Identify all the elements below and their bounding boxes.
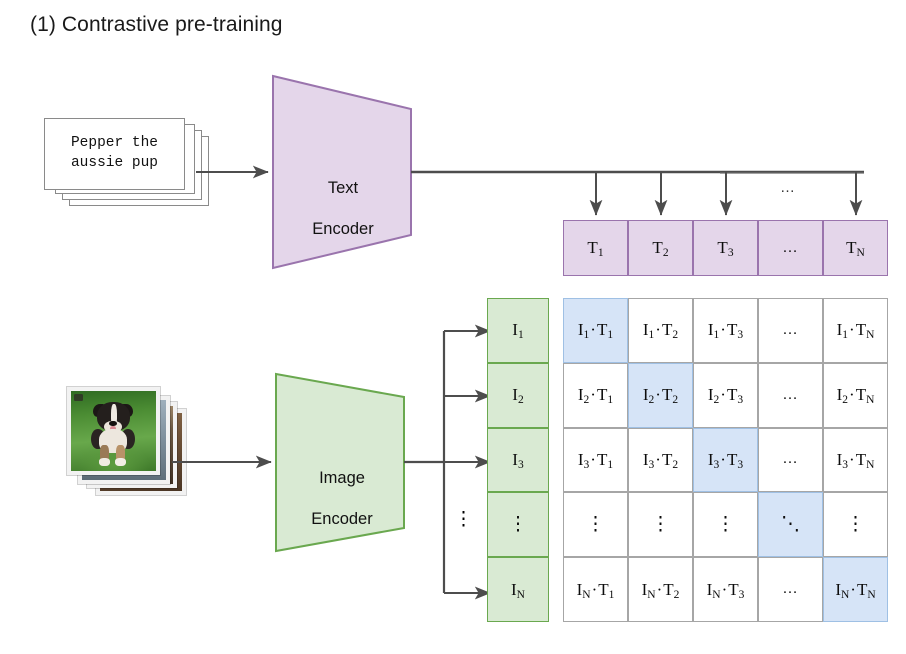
diagram-canvas: (1) Contrastive pre-training Pepper the … bbox=[0, 0, 906, 654]
image-embedding-ellipsis: ⋮ bbox=[487, 492, 549, 557]
matrix-cell-i3-t1: I3·T1 bbox=[563, 428, 628, 493]
image-encoder-line2: Encoder bbox=[311, 510, 372, 528]
image-embedding-i3: I3 bbox=[487, 428, 549, 493]
matrix-cell-ellipsis-r2-c4: … bbox=[758, 363, 823, 428]
text-embedding-t2: T2 bbox=[628, 220, 693, 276]
matrix-cell-i2-tN: I2·TN bbox=[823, 363, 888, 428]
matrix-cell-ellipsis-r4-c2: ⋮ bbox=[628, 492, 693, 557]
text-bus-ellipsis: … bbox=[780, 179, 796, 196]
matrix-cell-iN-tN: IN·TN bbox=[823, 557, 888, 622]
image-embedding-i2: I2 bbox=[487, 363, 549, 428]
text-encoder-line1: Text bbox=[328, 179, 358, 197]
image-encoder-label: Image Encoder bbox=[286, 447, 398, 530]
matrix-cell-ellipsis-r4-c5: ⋮ bbox=[823, 492, 888, 557]
text-embedding-tN: TN bbox=[823, 220, 888, 276]
matrix-cell-ellipsis-r3-c4: … bbox=[758, 428, 823, 493]
matrix-cell-ellipsis-r1-c4: … bbox=[758, 298, 823, 363]
matrix-cell-ellipsis-r5-c4: … bbox=[758, 557, 823, 622]
text-encoder-line2: Encoder bbox=[312, 220, 373, 238]
matrix-cell-i2-t1: I2·T1 bbox=[563, 363, 628, 428]
matrix-cell-i2-t2: I2·T2 bbox=[628, 363, 693, 428]
matrix-cell-i3-t3: I3·T3 bbox=[693, 428, 758, 493]
image-encoder-line1: Image bbox=[319, 469, 365, 487]
text-embedding-t3: T3 bbox=[693, 220, 758, 276]
image-embedding-iN: IN bbox=[487, 557, 549, 622]
matrix-cell-i2-t3: I2·T3 bbox=[693, 363, 758, 428]
matrix-cell-ellipsis-r4-c3: ⋮ bbox=[693, 492, 758, 557]
matrix-cell-iN-t2: IN·T2 bbox=[628, 557, 693, 622]
matrix-cell-i3-t2: I3·T2 bbox=[628, 428, 693, 493]
matrix-cell-ellipsis-r4-c1: ⋮ bbox=[563, 492, 628, 557]
matrix-cell-iN-t1: IN·T1 bbox=[563, 557, 628, 622]
matrix-cell-i1-t1: I1·T1 bbox=[563, 298, 628, 363]
image-bus-ellipsis: ⋮ bbox=[454, 508, 473, 531]
matrix-cell-i1-t3: I1·T3 bbox=[693, 298, 758, 363]
text-embedding-t1: T1 bbox=[563, 220, 628, 276]
matrix-cell-i3-tN: I3·TN bbox=[823, 428, 888, 493]
image-embedding-i1: I1 bbox=[487, 298, 549, 363]
matrix-cell-i1-t2: I1·T2 bbox=[628, 298, 693, 363]
matrix-cell-i1-tN: I1·TN bbox=[823, 298, 888, 363]
matrix-cell-iN-t3: IN·T3 bbox=[693, 557, 758, 622]
text-encoder-label: Text Encoder bbox=[288, 157, 398, 240]
text-embedding-ellipsis: … bbox=[758, 220, 823, 276]
matrix-cell-ellipsis-r4-c4: ⋱ bbox=[758, 492, 823, 557]
